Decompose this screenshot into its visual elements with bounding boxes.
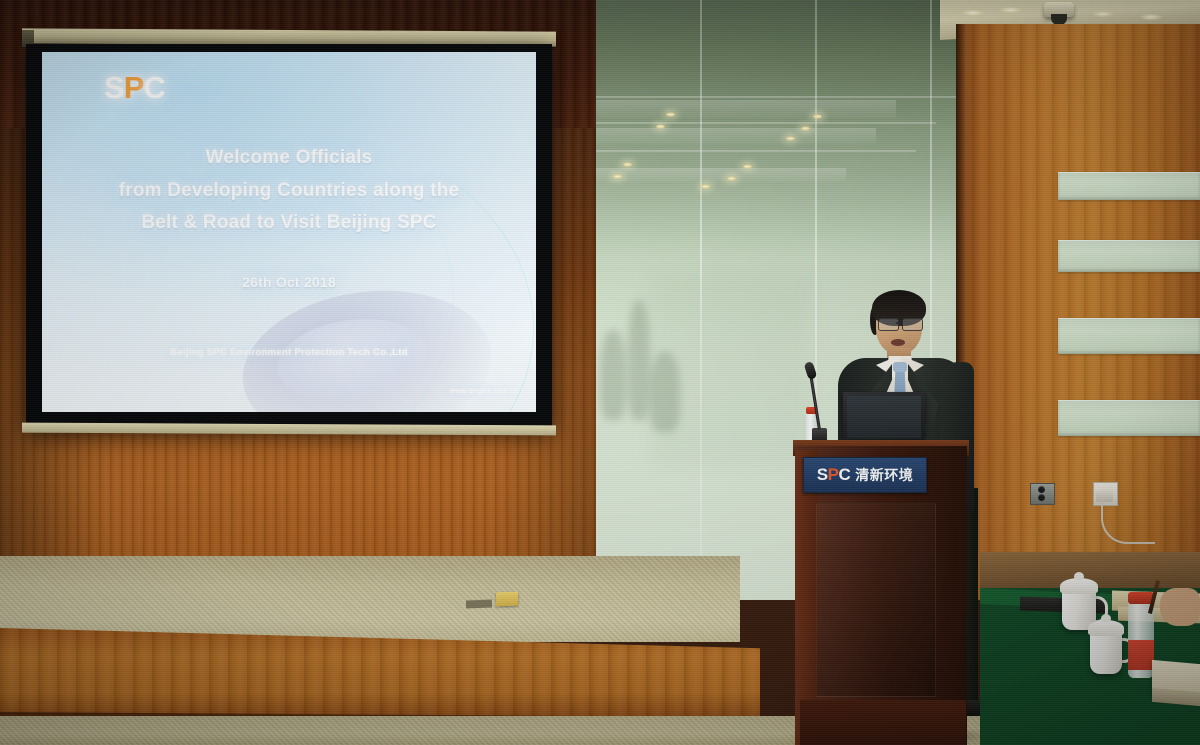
slide-logo-s: S xyxy=(104,70,124,105)
speaker-necktie-knot xyxy=(893,362,907,372)
glass-reflected-ceiling-line xyxy=(596,150,916,152)
eyeglasses-left-lens-icon xyxy=(878,318,899,331)
presentation-slide[interactable]: SPC Welcome Officials from Developing Co… xyxy=(42,52,536,412)
stage-yellow-card xyxy=(496,592,518,607)
av-outlet-plate[interactable] xyxy=(1030,483,1055,505)
ceiling-downlight xyxy=(962,10,984,16)
reflected-ceiling-light xyxy=(812,114,823,119)
ceiling-downlight xyxy=(1140,14,1162,20)
reflected-ceiling-light xyxy=(655,124,666,129)
teacup-lid-knob xyxy=(1074,572,1084,581)
podium-logo-p: P xyxy=(828,465,839,484)
reflected-panel xyxy=(650,275,810,465)
reflected-ceiling-light xyxy=(726,176,737,181)
av-jack-icon xyxy=(1038,494,1045,501)
slide-title-line-2: from Developing Countries along the xyxy=(42,180,536,202)
glass-reflected-soffit xyxy=(596,100,896,118)
wall-glass-slat xyxy=(1058,172,1200,200)
right-wall-wood-panel xyxy=(956,24,1200,600)
reflected-ceiling-light xyxy=(665,112,676,117)
slide-website: www.qingxin.com.cn xyxy=(450,386,518,395)
glass-reflected-soffit xyxy=(596,168,846,182)
slide-date: 26th Oct 2018 xyxy=(42,274,536,290)
eyeglasses-bridge-icon xyxy=(896,322,903,324)
wall-glass-slat xyxy=(1058,318,1200,354)
conference-hall-photo: SPC Welcome Officials from Developing Co… xyxy=(0,0,1200,745)
attendee-hand xyxy=(1160,588,1200,626)
reflected-ceiling-light xyxy=(622,162,633,167)
slide-spc-logo: SPC xyxy=(104,70,165,106)
reflected-figure xyxy=(628,300,650,420)
glass-reflected-ceiling-line xyxy=(596,122,936,124)
glass-reflected-ceiling-line xyxy=(596,96,958,98)
glass-reflected-soffit xyxy=(596,128,876,144)
stage-floor-plate xyxy=(466,600,492,609)
slide-title-line-1: Welcome Officials xyxy=(42,147,536,169)
podium-plinth xyxy=(800,700,966,745)
teacup-lid-knob xyxy=(1101,614,1111,623)
reflected-ceiling-light xyxy=(612,174,623,179)
av-jack-icon xyxy=(1038,486,1045,493)
speaker-mouth xyxy=(891,339,905,346)
power-cable xyxy=(1101,500,1155,544)
wall-glass-slat xyxy=(1058,400,1200,436)
podium-chinese-name: 清新环境 xyxy=(855,465,913,485)
podium-front-panel xyxy=(816,503,936,697)
table-water-bottle-label xyxy=(1128,640,1154,670)
reflected-ceiling-light xyxy=(785,136,796,141)
podium-brand-sign: SPC 清新环境 xyxy=(803,457,927,493)
podium-spc-logo: SPC xyxy=(817,465,850,485)
wall-glass-slat xyxy=(1058,240,1200,272)
slide-title-line-3: Belt & Road to Visit Beijing SPC xyxy=(42,212,536,234)
slide-logo-c: C xyxy=(143,70,164,105)
podium-logo-s: S xyxy=(817,465,828,484)
ceiling-downlight xyxy=(1092,11,1114,17)
ceiling-downlight xyxy=(1000,7,1022,13)
eyeglasses-right-lens-icon xyxy=(902,318,923,331)
slide-logo-p: P xyxy=(124,70,144,105)
stage-platform-top xyxy=(0,556,740,642)
reflected-ceiling-light xyxy=(800,126,811,131)
reflected-figure xyxy=(600,330,626,420)
reflected-ceiling-light xyxy=(742,164,753,169)
podium-logo-c: C xyxy=(838,465,850,484)
reflected-ceiling-light xyxy=(700,184,711,189)
slide-company-name: Beijing SPC Environment Protection Tech … xyxy=(42,347,536,358)
teacup-body[interactable] xyxy=(1090,632,1122,674)
laptop-screen[interactable] xyxy=(847,396,921,438)
